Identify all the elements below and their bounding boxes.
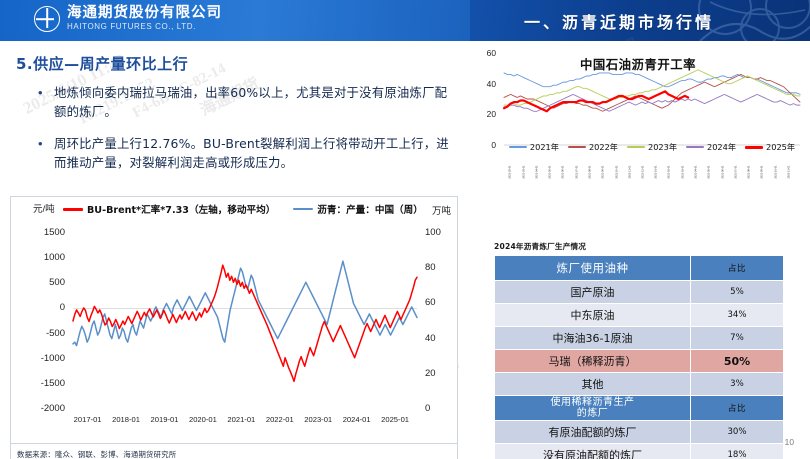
table-cell-share: 7% [691,327,784,350]
legend-item: 2022年 [568,141,618,153]
table-row: 中海油36-1原油7% [495,327,784,350]
legend-label: 2025年 [766,141,795,153]
slide-root: 海通期货股份有限公司 HAITONG FUTURES CO., LTD. 一、沥… [0,0,810,459]
table-cell-share: 3% [691,373,784,396]
table-row: 其他3% [495,373,784,396]
page-number: 10 [785,437,794,447]
y-axis-tick: -500 [19,328,65,339]
legend-swatch [686,146,704,148]
table-header-oil-type: 炼厂使用油种 [495,256,691,281]
table-cell-oil-type: 国产原油 [495,281,691,304]
x-axis-tick: 2025-01 [372,415,418,424]
haitong-logo-icon [34,6,60,32]
slide-body: 2025/6/10 11:49 10.219.12.52 F4-6B-8C-82… [0,41,810,459]
legend-label: 2023年 [648,141,677,153]
table-row: 炼厂使用油种占比 [495,256,784,281]
legend-label: 2021年 [530,141,559,153]
legend-swatch [509,146,527,148]
y2-axis-tick: 60 [425,297,455,308]
y-axis-tick: -1000 [19,353,65,364]
table-row: 没有原油配额的炼厂18% [495,444,784,459]
y-axis-tick: 1500 [19,227,65,238]
y-axis-tick: -2000 [19,403,65,414]
legend-label: 2022年 [589,141,618,153]
table-cell-oil-type: 其他 [495,373,691,396]
table-cell-share: 18% [691,444,784,459]
y-axis-tick: 40 [474,79,496,89]
section-title: 5.供应—周产量环比上行 [16,53,188,74]
header-line-2: 的炼厂 [577,408,609,419]
table-row: 国产原油5% [495,281,784,304]
legend-item: 2024年 [686,141,736,153]
table-cell-refinery-type: 有原油配额的炼厂 [495,421,691,444]
chart-china-asphalt-operating-rate: 中国石油沥青开工率 6040200 2021年2022年2023年2024年20… [466,41,810,236]
company-logo: 海通期货股份有限公司 HAITONG FUTURES CO., LTD. [34,6,222,32]
company-name-cn: 海通期货股份有限公司 [67,6,222,21]
header-line-1: 使用稀释沥青生产 [551,397,635,408]
chart-legend: 2021年2022年2023年2024年2025年 [502,141,802,153]
y-axis-tick: 500 [19,277,65,288]
y-axis-tick: 0 [19,302,65,313]
table-row: 中东原油34% [495,304,784,327]
table-header-share: 占比 [691,256,784,281]
chart-bu-brent-vs-output: 元/吨 万吨 BU-Brent*汇率*7.33（左轴，移动平均） 沥青：产量：中… [10,196,458,444]
legend-swatch [627,146,645,148]
refinery-production-table: 炼厂使用油种占比国产原油5%中东原油34%中海油36-1原油7%马瑞（稀释沥青）… [494,255,784,459]
y2-axis-tick: 40 [425,333,455,344]
production-table-block: 2024年沥青炼厂生产情况 炼厂使用油种占比国产原油5%中东原油34%中海油36… [472,241,806,459]
table-row: 马瑞（稀释沥青）50% [495,350,784,373]
legend-item: 2023年 [627,141,677,153]
table-title: 2024年沥青炼厂生产情况 [494,241,806,252]
chart-plot-area [11,197,459,445]
x-axis-tick: 2021-11-01 [788,165,798,178]
legend-swatch [745,146,763,149]
list-item: • 周环比产量上行12.76%。BU-Brent裂解利润上行将带动开工上行，进而… [38,134,453,172]
table-cell-refinery-type: 没有原油配额的炼厂 [495,444,691,459]
table-row: 使用稀释沥青生产的炼厂占比 [495,396,784,421]
table-cell-oil-type: 马瑞（稀释沥青） [495,350,691,373]
table-header-refinery-type: 使用稀释沥青生产的炼厂 [495,396,691,421]
bullet-dot-icon: • [38,135,46,172]
bullet-dot-icon: • [38,84,46,121]
header-title: 一、沥青近期市场行情 [524,9,714,33]
y2-axis-tick: 0 [425,403,455,414]
y-axis-tick: 0 [474,140,496,150]
y-axis-tick: 1000 [19,252,65,263]
chart-x-axis-ticks: 2021-01-012021-02-012021-03-012021-04-01… [502,159,798,185]
table-cell-share: 5% [691,281,784,304]
y2-axis-tick: 80 [425,262,455,273]
slide-header: 海通期货股份有限公司 HAITONG FUTURES CO., LTD. 一、沥… [0,0,810,41]
company-name-en: HAITONG FUTURES CO., LTD. [67,21,222,32]
y-axis-tick: 60 [474,48,496,58]
y-axis-tick: -1500 [19,378,65,389]
table-cell-oil-type: 中东原油 [495,304,691,327]
y-axis-tick: 20 [474,109,496,119]
legend-item: 2025年 [745,141,795,153]
y2-axis-tick: 20 [425,368,455,379]
table-header-share-2: 占比 [691,396,784,421]
table-cell-share: 34% [691,304,784,327]
table-cell-share: 50% [691,350,784,373]
y2-axis-tick: 100 [425,227,455,238]
bullet-text: 地炼倾向委内瑞拉马瑞油，出率60%以上，尤其是对于没有原油炼厂配额的炼厂。 [54,83,453,121]
bullet-list: • 地炼倾向委内瑞拉马瑞油，出率60%以上，尤其是对于没有原油炼厂配额的炼厂。 … [38,83,453,185]
legend-item: 2021年 [509,141,559,153]
source-note: 数据来源：隆众、钢联、彭博、海通期货研究所 [10,444,458,459]
table-cell-oil-type: 中海油36-1原油 [495,327,691,350]
table-row: 有原油配额的炼厂30% [495,421,784,444]
legend-swatch [568,146,586,148]
bullet-text: 周环比产量上行12.76%。BU-Brent裂解利润上行将带动开工上行，进而推动… [54,134,453,172]
list-item: • 地炼倾向委内瑞拉马瑞油，出率60%以上，尤其是对于没有原油炼厂配额的炼厂。 [38,83,453,121]
legend-label: 2024年 [707,141,736,153]
table-cell-share: 30% [691,421,784,444]
